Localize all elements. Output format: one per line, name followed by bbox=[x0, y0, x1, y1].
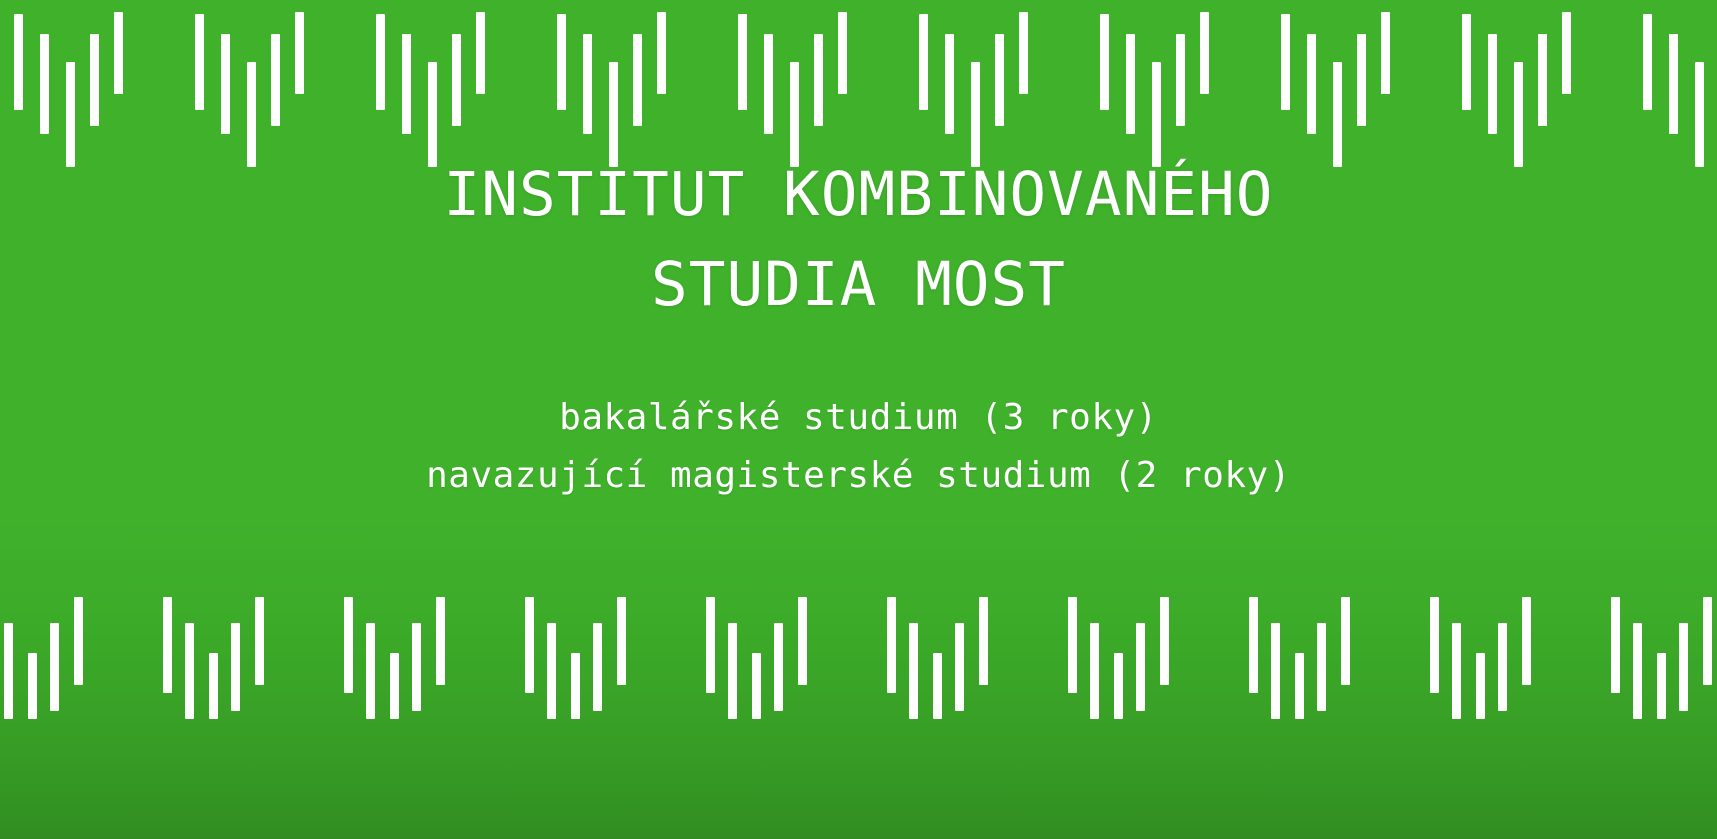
subtitle-line-1: bakalářské studium (3 roky) bbox=[0, 389, 1717, 447]
title-slide: INSTITUT KOMBINOVANÉHO STUDIA MOST bakal… bbox=[0, 0, 1717, 839]
subtitle-line-2: navazující magisterské studium (2 roky) bbox=[0, 447, 1717, 505]
page-title: INSTITUT KOMBINOVANÉHO STUDIA MOST bbox=[0, 150, 1717, 331]
title-line-1: INSTITUT KOMBINOVANÉHO bbox=[0, 150, 1717, 240]
page-subtitle: bakalářské studium (3 roky) navazující m… bbox=[0, 389, 1717, 506]
title-line-2: STUDIA MOST bbox=[0, 240, 1717, 330]
slide-content: INSTITUT KOMBINOVANÉHO STUDIA MOST bakal… bbox=[0, 150, 1717, 505]
